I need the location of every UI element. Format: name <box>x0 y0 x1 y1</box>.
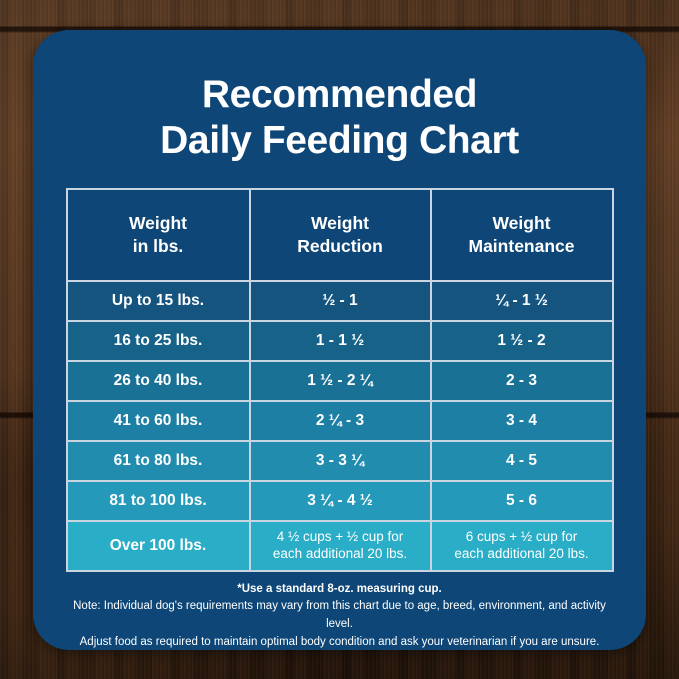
cell-maintenance: 6 cups + ½ cup for each additional 20 lb… <box>430 522 612 570</box>
footnote-note-line-1: Note: Individual dog's requirements may … <box>60 598 620 634</box>
cell-weight: 61 to 80 lbs. <box>68 442 249 480</box>
cell-weight: 81 to 100 lbs. <box>68 482 249 520</box>
title-line-2: Daily Feeding Chart <box>33 118 646 164</box>
table-row: 61 to 80 lbs. 3 - 3 ¼ 4 - 5 <box>68 440 612 480</box>
column-header-weight-reduction: Weight Reduction <box>249 190 430 280</box>
table-row: 26 to 40 lbs. 1 ½ - 2 ¼ 2 - 3 <box>68 360 612 400</box>
cell-reduction: 2 ¼ - 3 <box>249 402 430 440</box>
cell-weight: Over 100 lbs. <box>68 522 249 570</box>
cell-weight: 41 to 60 lbs. <box>68 402 249 440</box>
table-row: Up to 15 lbs. ½ - 1 ¼ - 1 ½ <box>68 280 612 320</box>
footnote-note-line-2: Adjust food as required to maintain opti… <box>60 634 620 650</box>
footnotes: *Use a standard 8-oz. measuring cup. Not… <box>60 581 620 650</box>
cell-weight: 26 to 40 lbs. <box>68 362 249 400</box>
column-header-weight: Weight in lbs. <box>68 190 249 280</box>
cell-reduction: 3 ¼ - 4 ½ <box>249 482 430 520</box>
table-row: 16 to 25 lbs. 1 - 1 ½ 1 ½ - 2 <box>68 320 612 360</box>
title-line-1: Recommended <box>33 72 646 118</box>
table-row: Over 100 lbs. 4 ½ cups + ½ cup for each … <box>68 520 612 570</box>
cell-reduction: ½ - 1 <box>249 282 430 320</box>
feeding-chart-card: Recommended Daily Feeding Chart Weight i… <box>33 30 646 650</box>
cell-reduction: 1 - 1 ½ <box>249 322 430 360</box>
feeding-chart-table: Weight in lbs. Weight Reduction Weight M… <box>66 188 614 572</box>
cell-maintenance: 5 - 6 <box>430 482 612 520</box>
cell-maintenance: 1 ½ - 2 <box>430 322 612 360</box>
cell-reduction: 1 ½ - 2 ¼ <box>249 362 430 400</box>
cell-reduction: 3 - 3 ¼ <box>249 442 430 480</box>
footnote-measuring-cup: *Use a standard 8-oz. measuring cup. <box>60 581 620 598</box>
cell-maintenance: 3 - 4 <box>430 402 612 440</box>
cell-maintenance: 4 - 5 <box>430 442 612 480</box>
column-header-weight-maintenance: Weight Maintenance <box>430 190 612 280</box>
cell-maintenance: ¼ - 1 ½ <box>430 282 612 320</box>
cell-reduction: 4 ½ cups + ½ cup for each additional 20 … <box>249 522 430 570</box>
cell-weight: Up to 15 lbs. <box>68 282 249 320</box>
table-row: 81 to 100 lbs. 3 ¼ - 4 ½ 5 - 6 <box>68 480 612 520</box>
page-title: Recommended Daily Feeding Chart <box>33 72 646 164</box>
table-row: 41 to 60 lbs. 2 ¼ - 3 3 - 4 <box>68 400 612 440</box>
cell-maintenance: 2 - 3 <box>430 362 612 400</box>
cell-weight: 16 to 25 lbs. <box>68 322 249 360</box>
table-header-row: Weight in lbs. Weight Reduction Weight M… <box>68 190 612 280</box>
